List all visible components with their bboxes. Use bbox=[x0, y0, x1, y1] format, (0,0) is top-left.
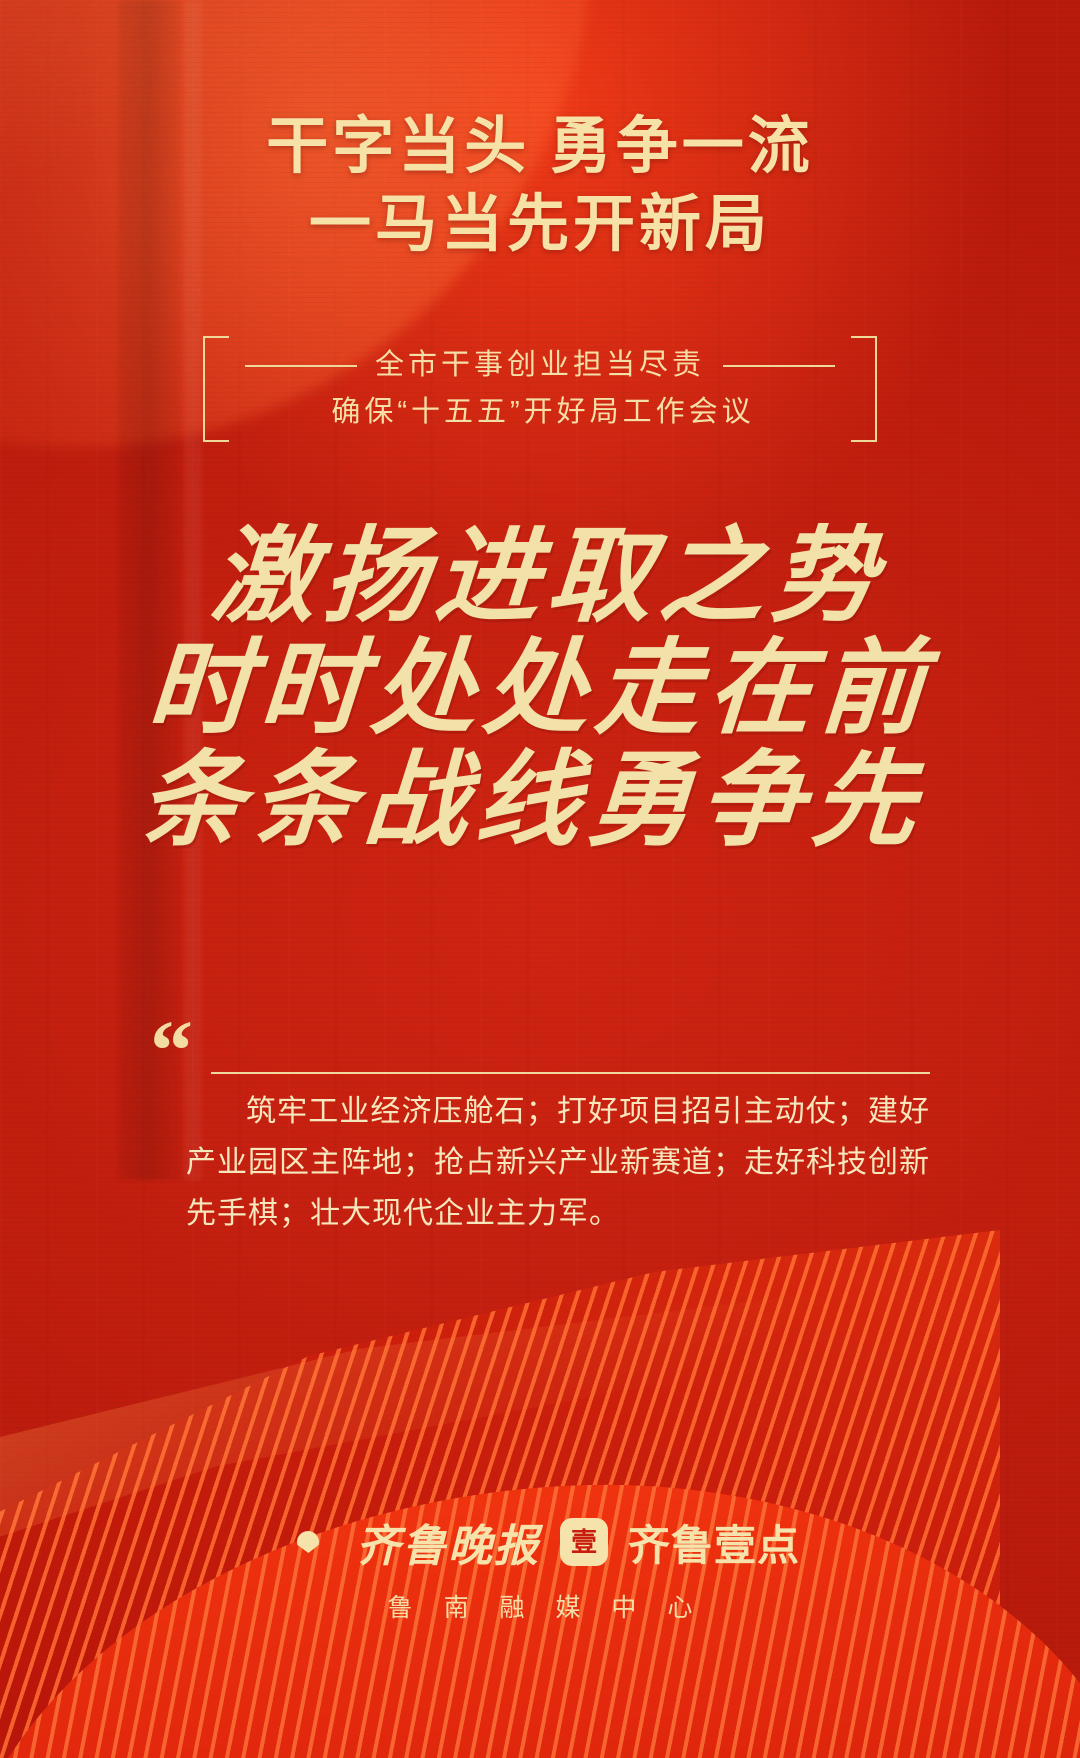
poster-content: 干字当头 勇争一流 一马当先开新局 全市干事创业担当尽责 确保“十五五”开好局工… bbox=[0, 0, 1080, 1758]
footer-brand-row: 齐鲁晚报 壹 齐鲁壹点 bbox=[280, 1510, 800, 1574]
poster-canvas: 干字当头 勇争一流 一马当先开新局 全市干事创业担当尽责 确保“十五五”开好局工… bbox=[0, 0, 1080, 1758]
brand-name: 齐鲁晚报 bbox=[356, 1510, 540, 1574]
footer: 齐鲁晚报 壹 齐鲁壹点 鲁 南 融 媒 中 心 bbox=[0, 1510, 1080, 1624]
subtitle-wrapper: 全市干事创业担当尽责 确保“十五五”开好局工作会议 bbox=[0, 332, 1080, 444]
publishing-unit: 鲁 南 融 媒 中 心 bbox=[376, 1588, 705, 1624]
swirl-core-icon bbox=[297, 1531, 319, 1553]
subtitle-dash-right-icon bbox=[723, 365, 835, 367]
headline-line-2: 一马当先开新局 bbox=[0, 186, 1080, 264]
subtitle-row-1: 全市干事创业担当尽责 bbox=[245, 342, 835, 389]
subtitle-line-1: 全市干事创业担当尽责 bbox=[375, 342, 705, 389]
slogan-line-1: 激扬进取之势 bbox=[4, 520, 1080, 632]
yidian-app-icon: 壹 bbox=[560, 1518, 608, 1566]
quote-header: “ bbox=[150, 1028, 930, 1078]
subtitle-dash-left-icon bbox=[245, 365, 357, 367]
slogan-line-3: 条条战线勇争先 bbox=[0, 744, 1076, 856]
bracket-corner-bottom-right-icon bbox=[851, 376, 877, 442]
subtitle-bracket-box: 全市干事创业担当尽责 确保“十五五”开好局工作会议 bbox=[203, 332, 877, 444]
slogan-line-2: 时时处处走在前 bbox=[0, 632, 1080, 744]
subtitle-line-2: 确保“十五五”开好局工作会议 bbox=[245, 389, 835, 436]
quote-body-text: 筑牢工业经济压舱石；打好项目招引主动仗；建好产业园区主阵地；抢占新兴产业新赛道；… bbox=[186, 1086, 930, 1239]
qilu-swirl-logo-icon bbox=[280, 1514, 336, 1570]
bracket-corner-bottom-left-icon bbox=[203, 376, 229, 442]
headline: 干字当头 勇争一流 一马当先开新局 bbox=[0, 108, 1080, 264]
app-name: 齐鲁壹点 bbox=[628, 1512, 800, 1573]
quote-divider bbox=[211, 1072, 930, 1074]
quote-mark-icon: “ bbox=[150, 1022, 193, 1078]
headline-line-1: 干字当头 勇争一流 bbox=[0, 108, 1080, 186]
slogan: 激扬进取之势 时时处处走在前 条条战线勇争先 bbox=[0, 520, 1080, 856]
